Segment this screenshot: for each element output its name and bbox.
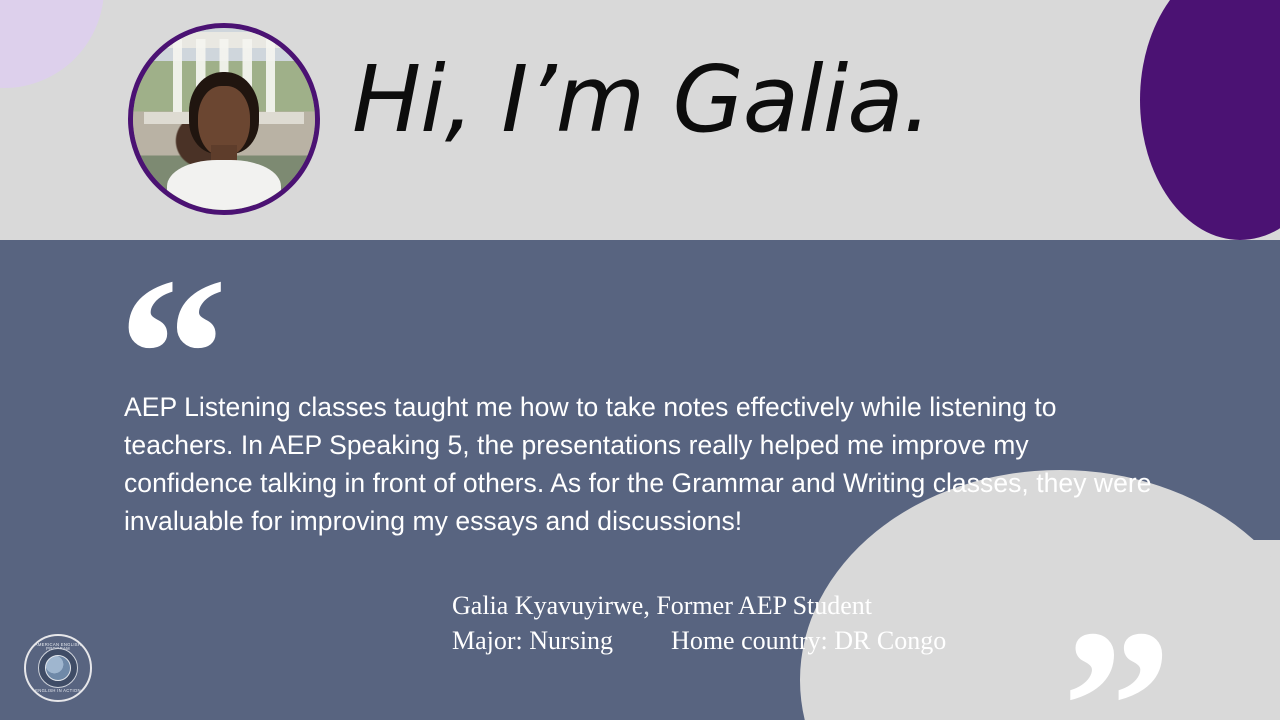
page-title: Hi, I’m Galia.	[352, 52, 931, 149]
avatar-photo	[133, 28, 315, 210]
avatar	[128, 23, 320, 215]
logo-inner-ring	[38, 648, 78, 688]
testimonial-slide: Hi, I’m Galia. “ AEP Listening classes t…	[0, 0, 1280, 720]
quote-text: AEP Listening classes taught me how to t…	[124, 388, 1154, 540]
avatar-person	[182, 72, 266, 214]
program-logo: AMERICAN ENGLISH PROGRAM ENGLISH IN ACTI…	[24, 634, 92, 702]
attribution-major: Major: Nursing	[452, 623, 613, 658]
logo-bottom-text: ENGLISH IN ACTION	[26, 689, 90, 693]
attribution-name: Galia Kyavuyirwe, Former AEP Student	[452, 588, 1072, 623]
globe-icon	[45, 655, 71, 681]
attribution-details: Major: Nursing Home country: DR Congo	[452, 623, 1072, 658]
close-quote-icon: ”	[1062, 596, 1168, 720]
lavender-circle-decoration	[0, 0, 104, 88]
quote-band: “ AEP Listening classes taught me how to…	[0, 240, 1280, 720]
avatar-shirt	[167, 160, 281, 215]
attribution: Galia Kyavuyirwe, Former AEP Student Maj…	[452, 588, 1072, 658]
purple-leaf-decoration	[1140, 0, 1280, 240]
attribution-home-country: Home country: DR Congo	[671, 623, 946, 658]
